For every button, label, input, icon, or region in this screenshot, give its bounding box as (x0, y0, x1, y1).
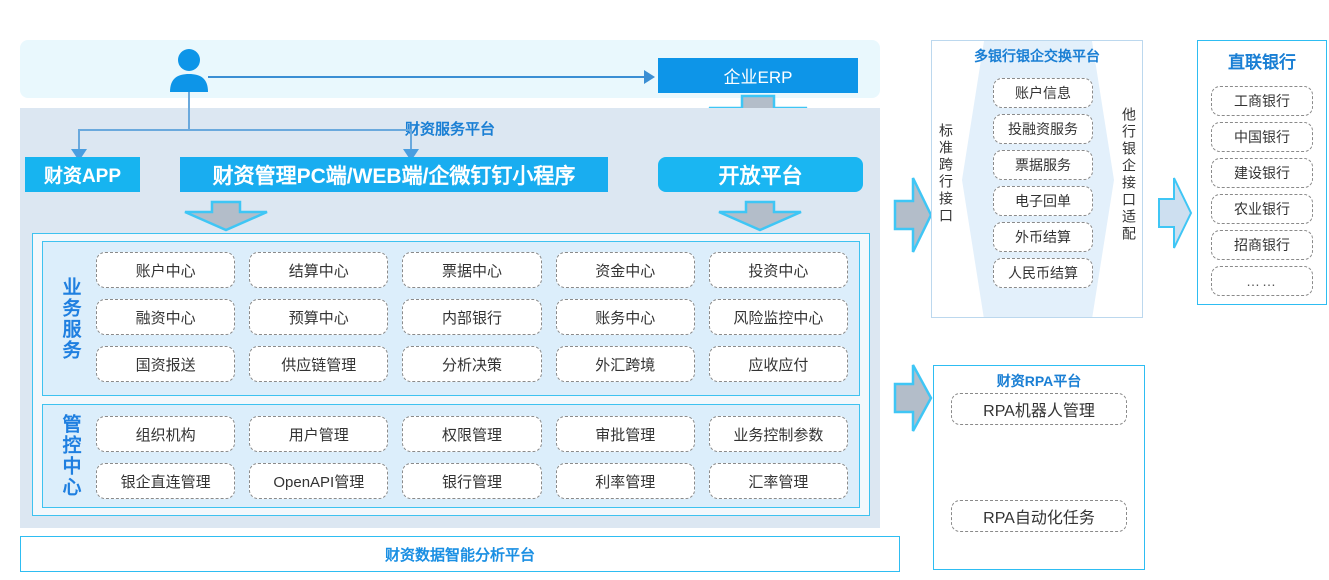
user-to-erp-line (208, 76, 648, 78)
treasury-app-label: 财资APP (44, 161, 121, 188)
multibank-title: 多银行银企交换平台 (931, 46, 1143, 66)
control-center-item[interactable]: 审批管理 (556, 416, 695, 452)
architecture-diagram: 企业ERP 财资服务平台 财资APP 财资管理PC端/WEB端/企微钉钉小程序 … (0, 0, 1329, 580)
control-center-item[interactable]: 利率管理 (556, 463, 695, 499)
control-center-item[interactable]: OpenAPI管理 (249, 463, 388, 499)
tree-branch-line (78, 129, 412, 131)
multibank-service-list: 账户信息投融资服务票据服务电子回单外币结算人民币结算 (993, 78, 1093, 288)
rpa-automation-task-item[interactable]: RPA自动化任务 (951, 500, 1127, 532)
treasury-pc-web-button[interactable]: 财资管理PC端/WEB端/企微钉钉小程序 (180, 157, 608, 192)
rpa-platform-title: 财资RPA平台 (933, 371, 1145, 391)
multibank-service-item[interactable]: 投融资服务 (993, 114, 1093, 144)
business-service-item[interactable]: 国资报送 (96, 346, 235, 382)
control-center-item[interactable]: 权限管理 (402, 416, 541, 452)
tree-left-drop-line (78, 129, 80, 151)
rpa-robot-management-item[interactable]: RPA机器人管理 (951, 393, 1127, 425)
control-center-item[interactable]: 业务控制参数 (709, 416, 848, 452)
open-platform-button[interactable]: 开放平台 (658, 157, 863, 192)
business-service-item[interactable]: 资金中心 (556, 252, 695, 288)
business-service-item[interactable]: 结算中心 (249, 252, 388, 288)
arrow-head-right-icon (644, 70, 655, 84)
control-center-vertical-label: 管控中心 (56, 411, 84, 501)
direct-bank-item[interactable]: …… (1211, 266, 1313, 296)
multibank-service-item[interactable]: 电子回单 (993, 186, 1093, 216)
platform-title: 财资服务平台 (405, 118, 495, 139)
direct-bank-item[interactable]: 建设银行 (1211, 158, 1313, 188)
user-icon (168, 48, 210, 92)
enterprise-erp-button[interactable]: 企业ERP (658, 58, 858, 93)
business-service-item[interactable]: 融资中心 (96, 299, 235, 335)
direct-bank-item[interactable]: 工商银行 (1211, 86, 1313, 116)
business-service-item[interactable]: 分析决策 (402, 346, 541, 382)
control-center-item[interactable]: 汇率管理 (709, 463, 848, 499)
business-services-vertical-label: 业务服务 (56, 248, 84, 389)
business-service-item[interactable]: 账户中心 (96, 252, 235, 288)
control-center-grid: 组织机构用户管理权限管理审批管理业务控制参数银企直连管理OpenAPI管理银行管… (96, 416, 848, 499)
multibank-to-directbank-arrow-icon (1157, 175, 1193, 251)
multibank-service-item[interactable]: 票据服务 (993, 150, 1093, 180)
multibank-service-item[interactable]: 外币结算 (993, 222, 1093, 252)
other-bank-adapter-label: 他行银企接口适配 (1117, 80, 1141, 270)
multibank-service-item[interactable]: 账户信息 (993, 78, 1093, 108)
treasury-app-button[interactable]: 财资APP (25, 157, 140, 192)
business-service-item[interactable]: 账务中心 (556, 299, 695, 335)
business-service-item[interactable]: 风险监控中心 (709, 299, 848, 335)
direct-bank-item[interactable]: 农业银行 (1211, 194, 1313, 224)
enterprise-erp-label: 企业ERP (724, 63, 793, 88)
business-service-item[interactable]: 预算中心 (249, 299, 388, 335)
multibank-service-item[interactable]: 人民币结算 (993, 258, 1093, 288)
data-analysis-platform-label: 财资数据智能分析平台 (385, 544, 535, 565)
business-service-item[interactable]: 外汇跨境 (556, 346, 695, 382)
platform-to-rpa-arrow-icon (893, 362, 933, 434)
business-service-item[interactable]: 内部银行 (402, 299, 541, 335)
business-service-item[interactable]: 票据中心 (402, 252, 541, 288)
control-center-item[interactable]: 银企直连管理 (96, 463, 235, 499)
direct-connect-banks-title: 直联银行 (1197, 48, 1327, 73)
treasury-pc-web-label: 财资管理PC端/WEB端/企微钉钉小程序 (213, 160, 576, 190)
platform-to-multibank-arrow-icon (893, 175, 933, 255)
business-services-grid: 账户中心结算中心票据中心资金中心投资中心融资中心预算中心内部银行账务中心风险监控… (96, 252, 848, 382)
open-platform-label: 开放平台 (719, 160, 803, 190)
standard-cross-bank-interface-label: 标准跨行接口 (934, 94, 958, 254)
business-service-item[interactable]: 供应链管理 (249, 346, 388, 382)
business-service-item[interactable]: 投资中心 (709, 252, 848, 288)
open-platform-down-arrow-icon (717, 200, 803, 232)
direct-connect-banks-list: 工商银行中国银行建设银行农业银行招商银行…… (1211, 86, 1313, 296)
control-center-item[interactable]: 用户管理 (249, 416, 388, 452)
control-center-item[interactable]: 组织机构 (96, 416, 235, 452)
tree-trunk-line (188, 92, 190, 130)
direct-bank-item[interactable]: 招商银行 (1211, 230, 1313, 260)
app-down-arrow-icon (183, 200, 269, 232)
tree-right-drop-line (410, 129, 412, 151)
direct-bank-item[interactable]: 中国银行 (1211, 122, 1313, 152)
data-analysis-platform-bar: 财资数据智能分析平台 (20, 536, 900, 572)
business-service-item[interactable]: 应收应付 (709, 346, 848, 382)
control-center-item[interactable]: 银行管理 (402, 463, 541, 499)
